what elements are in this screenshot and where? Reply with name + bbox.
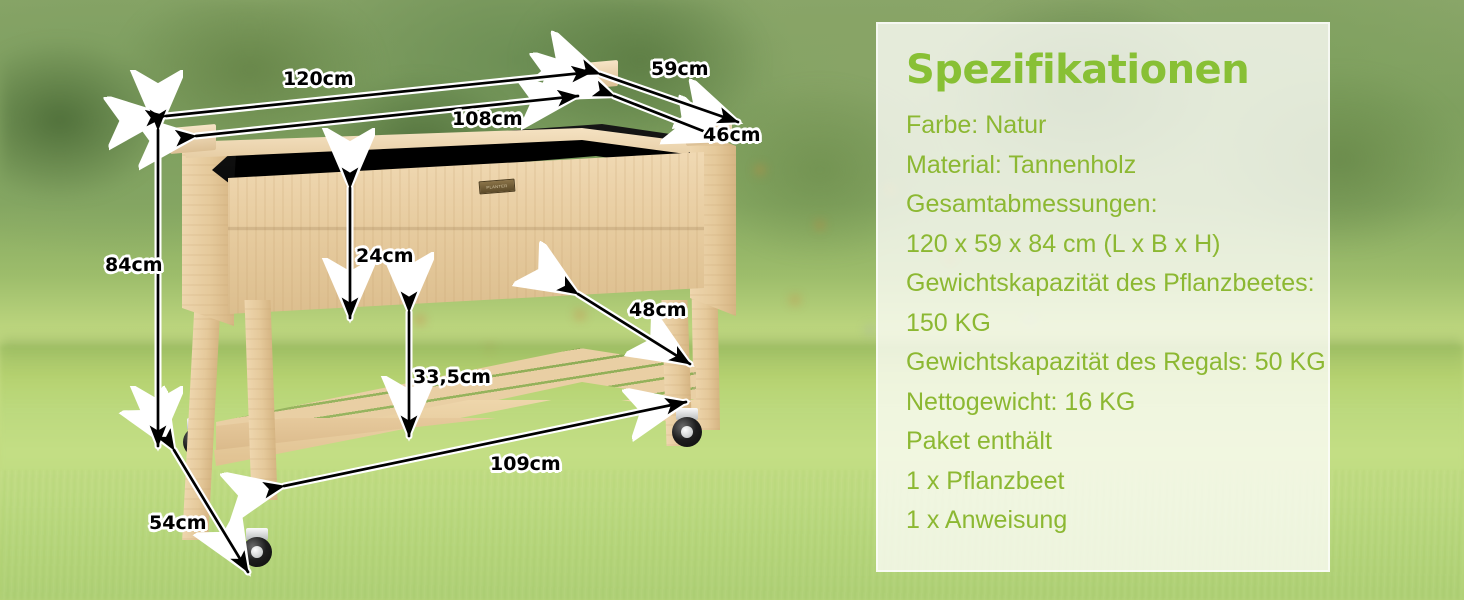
dimension-label-inner-depth: 46cm [703, 124, 761, 146]
arrow-shelf-length [284, 402, 686, 486]
spec-line-paket-item-2: 1 x Anweisung [906, 501, 1328, 541]
specifications-panel: Spezifikationen Farbe: Natur Material: T… [876, 22, 1330, 572]
spec-line-kapazitaet-beet: Gewichtskapazität des Pflanzbeetes: [906, 264, 1328, 304]
spec-line-material: Material: Tannenholz [906, 146, 1328, 186]
spec-line-kapazitaet-regal: Gewichtskapazität des Regals: 50 KG [906, 343, 1328, 383]
spec-line-paket-item-1: 1 x Pflanzbeet [906, 462, 1328, 502]
spec-line-kapazitaet-beet-wert: 150 KG [906, 304, 1328, 344]
arrow-outer-length [166, 72, 592, 116]
spec-line-nettogewicht: Nettogewicht: 16 KG [906, 383, 1328, 423]
spec-line-paket-enthaelt: Paket enthält [906, 422, 1328, 462]
specifications-title: Spezifikationen [906, 50, 1328, 90]
infographic-canvas: PLANTER [0, 0, 1464, 600]
spec-line-masse: 120 x 59 x 84 cm (L x B x H) [906, 225, 1328, 265]
dimension-label-shelf-depth: 48cm [629, 299, 687, 321]
spec-line-farbe: Farbe: Natur [906, 106, 1328, 146]
dimension-label-outer-length: 120cm [283, 68, 354, 90]
dimension-label-outer-depth: 59cm [651, 58, 709, 80]
dimension-label-base-depth: 54cm [149, 512, 207, 534]
dimension-label-shelf-length: 109cm [490, 453, 561, 475]
arrow-base-depth [174, 450, 248, 572]
dimension-label-shelf-clearance: 33,5cm [413, 366, 491, 388]
spec-line-gesamtabmessungen: Gesamtabmessungen: [906, 185, 1328, 225]
dimension-label-soil-depth: 24cm [356, 245, 414, 267]
dimension-label-total-height: 84cm [105, 254, 163, 276]
dimension-label-inner-length: 108cm [452, 108, 523, 130]
